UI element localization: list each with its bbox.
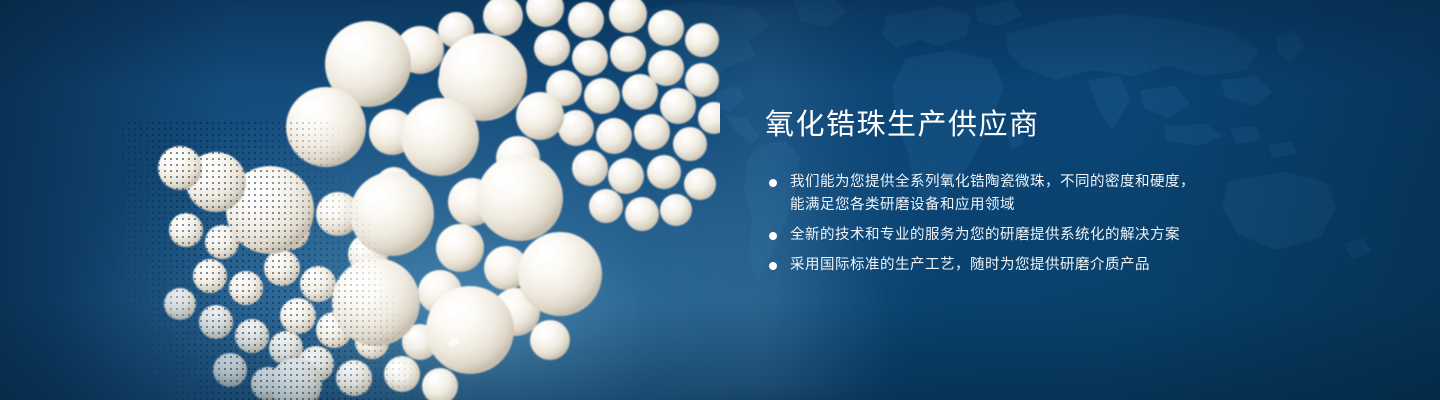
list-item: 全新的技术和专业的服务为您的研磨提供系统化的解决方案 [765, 224, 1385, 247]
bullet-dot-icon [769, 262, 777, 270]
list-item: 我们能为您提供全系列氧化锆陶瓷微珠，不同的密度和硬度， 能满足您各类研磨设备和应… [765, 171, 1385, 217]
list-item: 采用国际标准的生产工艺，随时为您提供研磨介质产品 [765, 254, 1385, 277]
list-item-line2: 能满足您各类研磨设备和应用领域 [790, 194, 1385, 217]
bullet-dot-icon [769, 179, 777, 187]
list-item-line1: 我们能为您提供全系列氧化锆陶瓷微珠，不同的密度和硬度， [790, 174, 1195, 190]
bullet-dot-icon [769, 232, 777, 240]
banner-copy: 氧化锆珠生产供应商 我们能为您提供全系列氧化锆陶瓷微珠，不同的密度和硬度， 能满… [765, 106, 1385, 277]
feature-list: 我们能为您提供全系列氧化锆陶瓷微珠，不同的密度和硬度， 能满足您各类研磨设备和应… [765, 171, 1385, 277]
list-item-line1: 全新的技术和专业的服务为您的研磨提供系统化的解决方案 [790, 227, 1180, 243]
page-title: 氧化锆珠生产供应商 [765, 106, 1385, 144]
zirconia-beads-photo [120, 0, 720, 400]
list-item-line1: 采用国际标准的生产工艺，随时为您提供研磨介质产品 [790, 257, 1150, 273]
hero-banner: 氧化锆珠生产供应商 我们能为您提供全系列氧化锆陶瓷微珠，不同的密度和硬度， 能满… [0, 0, 1440, 400]
